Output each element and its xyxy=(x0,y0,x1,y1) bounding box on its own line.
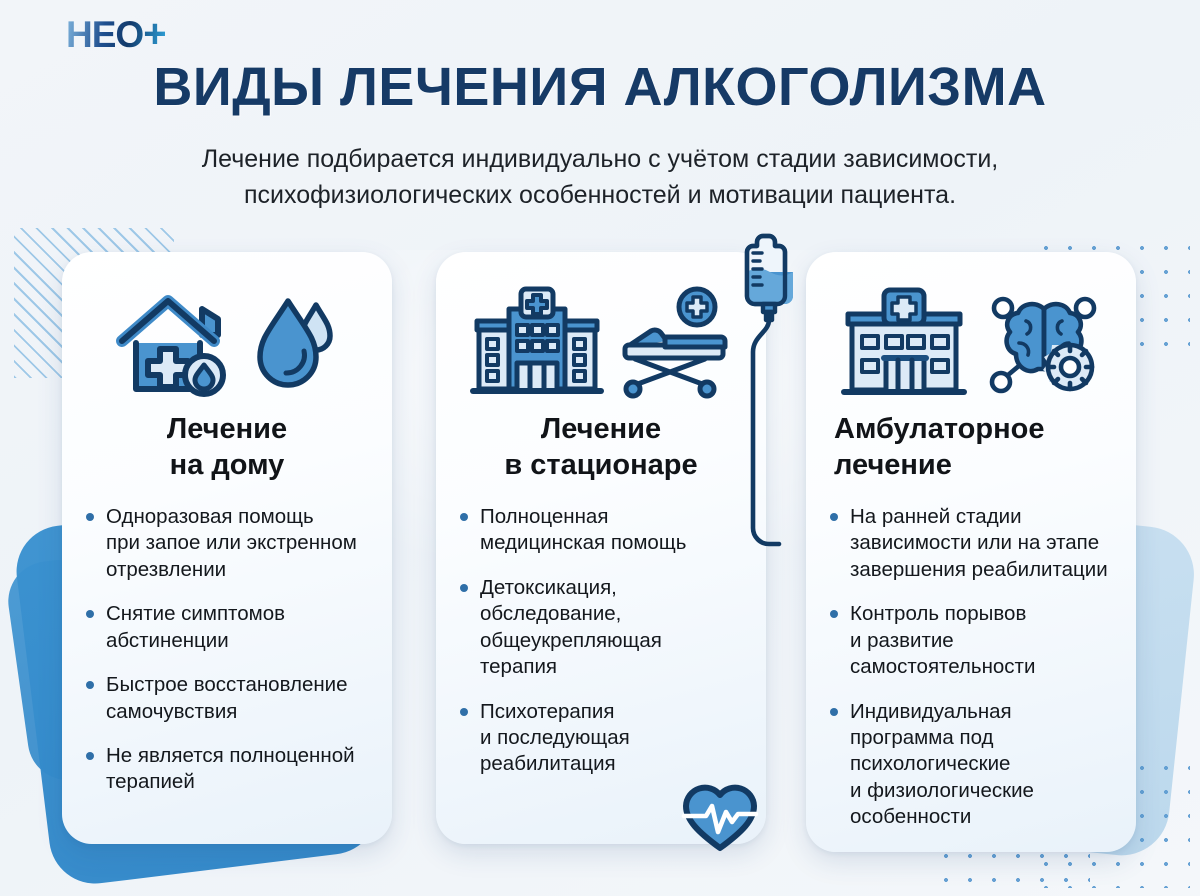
infographic-canvas: НЕО+ ВИДЫ ЛЕЧЕНИЯ АЛКОГОЛИЗМА Лечение по… xyxy=(0,0,1200,896)
card-bullets-home: Одноразовая помощь при запое или экстрен… xyxy=(84,504,370,796)
hospital-bed-icon xyxy=(621,287,731,399)
brand-logo-text: НЕО xyxy=(66,14,143,55)
card-icons-outpatient xyxy=(828,280,1114,406)
clinic-building-icon xyxy=(840,288,968,398)
list-item: На ранней стадии зависимости или на этап… xyxy=(828,504,1114,583)
house-medical-icon xyxy=(116,285,236,401)
card-home-treatment[interactable]: Лечение на дому Одноразовая помощь при з… xyxy=(62,252,392,844)
card-icons-inpatient xyxy=(458,280,744,406)
card-icons-home xyxy=(84,280,370,406)
card-title-outpatient: Амбулаторное лечение xyxy=(828,412,1114,484)
list-item: Психотерапия и последующая реабилитация xyxy=(458,699,744,778)
card-title-home: Лечение на дому xyxy=(84,412,370,484)
list-item: Индивидуальная программа под психологиче… xyxy=(828,699,1114,831)
water-drop-icon xyxy=(254,289,338,397)
page-title: ВИДЫ ЛЕЧЕНИЯ АЛКОГОЛИЗМА xyxy=(0,58,1200,117)
brand-logo: НЕО+ xyxy=(66,14,166,54)
brain-gear-icon xyxy=(986,287,1102,399)
card-outpatient-treatment[interactable]: Амбулаторное лечение На ранней стадии за… xyxy=(806,252,1136,852)
list-item: Быстрое восстановление самочувствия xyxy=(84,672,370,725)
list-item: Контроль порывов и развитие самостоятель… xyxy=(828,601,1114,680)
list-item: Снятие симптомов абстиненции xyxy=(84,601,370,654)
card-inpatient-treatment[interactable]: Лечение в стационаре Полноценная медицин… xyxy=(436,252,766,844)
card-bullets-outpatient: На ранней стадии зависимости или на этап… xyxy=(828,504,1114,831)
iv-drip-bag-icon xyxy=(735,228,805,568)
heart-pulse-icon xyxy=(682,782,758,854)
cards-container: Лечение на дому Одноразовая помощь при з… xyxy=(0,252,1200,852)
list-item: Полноценная медицинская помощь xyxy=(458,504,744,557)
list-item: Не является полноценной терапией xyxy=(84,743,370,796)
list-item: Одноразовая помощь при запое или экстрен… xyxy=(84,504,370,583)
list-item: Детоксикация, обследование, общеукрепляю… xyxy=(458,575,744,681)
brand-logo-plus: + xyxy=(143,12,165,56)
hospital-building-icon xyxy=(471,287,603,399)
page-subtitle: Лечение подбирается индивидуально с учёт… xyxy=(90,142,1110,213)
card-bullets-inpatient: Полноценная медицинская помощь Детоксика… xyxy=(458,504,744,778)
card-title-inpatient: Лечение в стационаре xyxy=(458,412,744,484)
